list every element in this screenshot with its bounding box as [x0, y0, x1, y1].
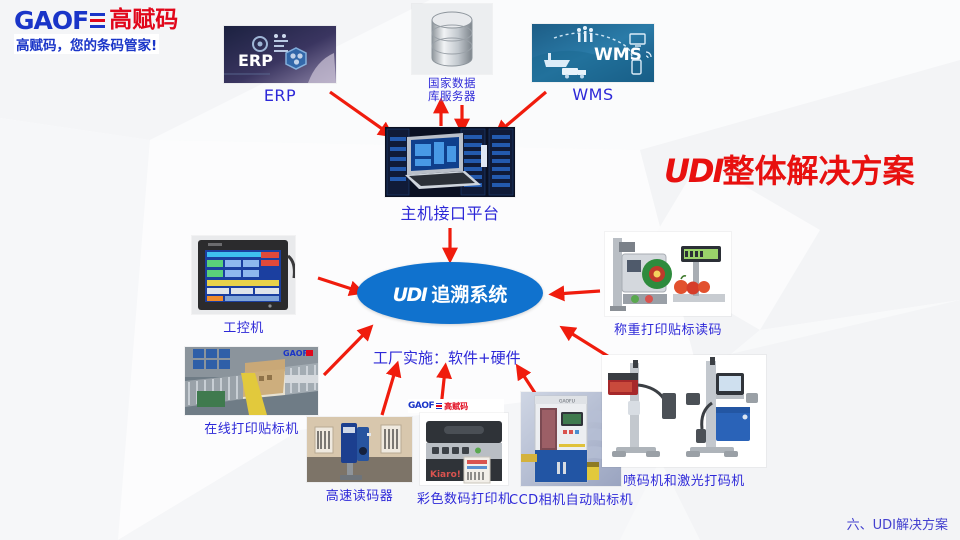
page-title: UDI整体解决方案	[664, 146, 914, 192]
database-icon	[412, 4, 492, 74]
watermark-cn: 高赋码	[444, 401, 468, 412]
central-traceability-system[interactable]: UDI追溯系统	[357, 262, 543, 324]
headline-rest: 整体解决方案	[722, 152, 914, 190]
online-labeler-caption: 在线打印贴标机	[204, 418, 299, 437]
weigh-label-caption: 称重打印贴标读码	[614, 319, 722, 338]
node-national-database[interactable]: 国家数据 库服务器	[412, 4, 492, 103]
color-printer-image: Kiaro!	[420, 413, 508, 485]
high-speed-reader-image	[307, 417, 412, 482]
logo-bars-icon	[90, 13, 105, 29]
ellipse-text: UDI追溯系统	[393, 280, 508, 307]
slide-footer: 六、UDI解决方案	[847, 514, 948, 533]
ellipse-label: 追溯系统	[431, 284, 507, 306]
color-printer-caption: 彩色数码打印机	[417, 488, 512, 507]
wms-image: WMS	[532, 24, 654, 82]
ellipse-udi: UDI	[393, 284, 427, 306]
svg-text:WMS: WMS	[594, 45, 642, 65]
logo-chinese-text: 高赋码	[109, 8, 178, 33]
inkjet-laser-image	[602, 355, 766, 467]
industrial-pc-label: 工控机	[223, 317, 264, 336]
inkjet-laser-caption: 喷码机和激光打码机	[623, 470, 745, 489]
node-industrial-pc[interactable]: 工控机	[192, 236, 295, 336]
host-interface-image	[385, 127, 515, 197]
node-inkjet-laser-marker[interactable]: 喷码机和激光打码机	[602, 355, 766, 489]
svg-text:ERP: ERP	[238, 51, 273, 70]
factory-implementation-note: 工厂实施：软件+硬件	[373, 347, 521, 368]
node-host-interface[interactable]: 主机接口平台	[385, 127, 515, 224]
node-wms[interactable]: WMS WMS	[532, 24, 654, 104]
svg-text:Kiaro!: Kiaro!	[430, 470, 461, 480]
logo-wordmark: GAOF 高赋码	[14, 8, 192, 33]
logo-latin-text: GAOF	[14, 8, 88, 33]
node-color-printer[interactable]: Kiaro! 彩色数码打印机	[417, 413, 512, 507]
erp-label: ERP	[264, 86, 296, 105]
industrial-pc-image	[192, 236, 295, 314]
svg-text:GAOFU: GAOFU	[559, 399, 575, 405]
erp-image: ERP	[224, 26, 336, 83]
watermark-latin: GAOF	[408, 401, 434, 411]
headline-udi: UDI	[664, 152, 722, 190]
node-high-speed-reader[interactable]: 高速读码器	[307, 417, 412, 504]
node-online-labeler[interactable]: GAOF 在线打印贴标机	[185, 347, 318, 437]
svg-text:GAOF: GAOF	[283, 349, 308, 358]
company-logo: GAOF 高赋码 高赋码，您的条码管家!	[14, 8, 192, 54]
wms-label: WMS	[572, 85, 613, 104]
node-erp[interactable]: ERP ERP	[224, 26, 336, 105]
logo-tagline: 高赋码，您的条码管家!	[14, 34, 159, 54]
online-labeler-image: GAOF	[185, 347, 318, 415]
node-weigh-label-read[interactable]: 称重打印贴标读码	[605, 232, 731, 338]
watermark-bars-icon	[436, 403, 442, 410]
ccd-labeler-caption: CCD相机自动贴标机	[509, 489, 633, 508]
high-speed-reader-caption: 高速读码器	[326, 485, 394, 504]
slide-canvas: GAOF 高赋码 高赋码，您的条码管家! UDI整体解决方案 ERP	[0, 0, 960, 540]
host-interface-label: 主机接口平台	[400, 200, 499, 224]
database-label-line2: 库服务器	[428, 90, 476, 103]
gaof-watermark: GAOF 高赋码	[408, 399, 504, 413]
weigh-label-image	[605, 232, 731, 316]
